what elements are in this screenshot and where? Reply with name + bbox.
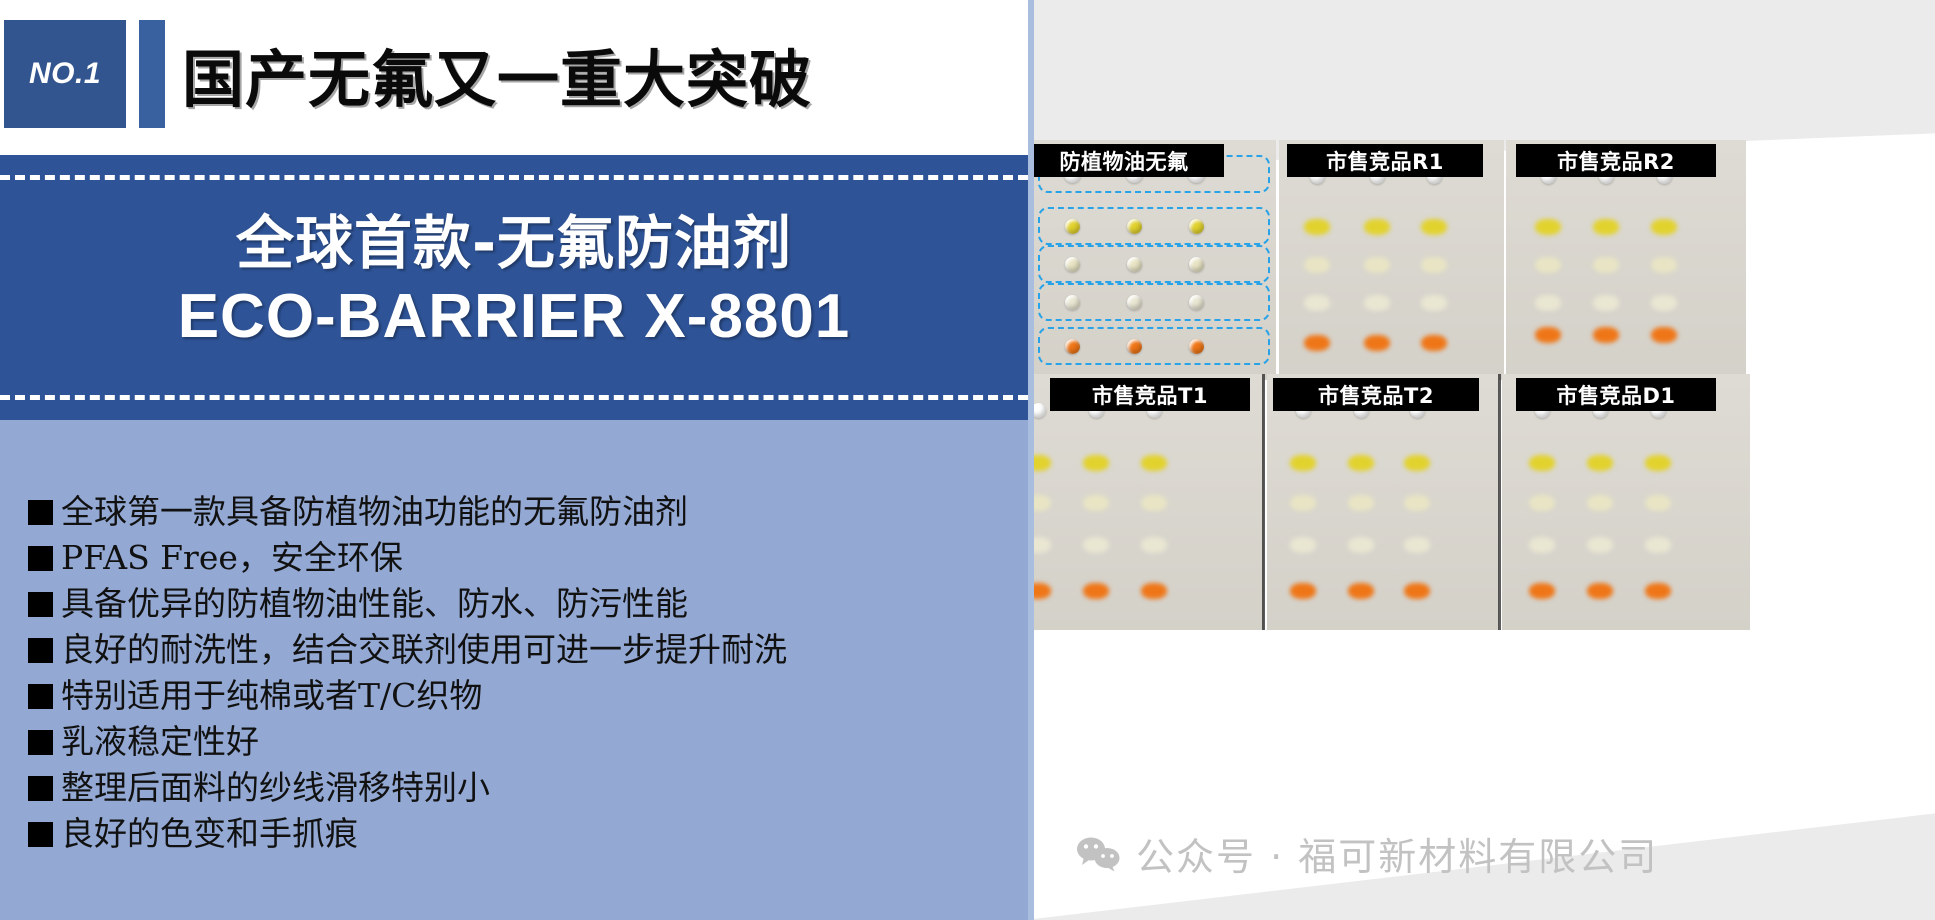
test-droplet <box>1404 495 1430 511</box>
test-droplet <box>1141 537 1167 553</box>
test-droplet <box>1529 537 1555 553</box>
test-droplet <box>1304 219 1330 235</box>
test-droplet <box>1028 495 1051 511</box>
test-droplet <box>1593 219 1619 235</box>
test-panel-label-1: 防植物油无氟 <box>1028 144 1224 177</box>
test-droplet <box>1028 583 1051 599</box>
no1-badge: NO.1 <box>4 20 126 128</box>
left-panel: NO.1 国产无氟又一重大突破 全球首款-无氟防油剂 ECO-BARRIER X… <box>0 0 1028 920</box>
header-bar: NO.1 国产无氟又一重大突破 <box>0 0 1028 150</box>
hero-text-block: 全球首款-无氟防油剂 ECO-BARRIER X-8801 <box>0 207 1028 355</box>
feature-bullet-label: 良好的耐洗性，结合交联剂使用可进一步提升耐洗 <box>61 628 787 672</box>
test-droplet <box>1364 219 1390 235</box>
test-droplet <box>1348 537 1374 553</box>
test-droplet <box>1529 495 1555 511</box>
test-droplet <box>1304 295 1330 311</box>
feature-bullet-item: 乳液稳定性好 <box>28 720 1028 764</box>
test-droplet <box>1587 537 1613 553</box>
test-panel-2: 市售竞品R1 <box>1279 140 1504 380</box>
test-droplet <box>1651 257 1677 273</box>
bullet-square-icon <box>28 546 53 571</box>
test-droplet <box>1364 295 1390 311</box>
feature-bullet-item: 具备优异的防植物油性能、防水、防污性能 <box>28 582 1028 626</box>
test-droplet <box>1348 583 1374 599</box>
test-droplet <box>1141 583 1167 599</box>
test-droplet <box>1290 455 1316 471</box>
feature-bullet-label: 具备优异的防植物油性能、防水、防污性能 <box>61 582 688 626</box>
feature-bullet-label: 整理后面料的纱线滑移特别小 <box>61 766 490 810</box>
test-droplet <box>1083 583 1109 599</box>
test-droplet <box>1304 335 1330 351</box>
no-penetration-highlight-box <box>1038 245 1270 283</box>
bullet-square-icon <box>28 684 53 709</box>
test-droplet <box>1031 403 1046 418</box>
bullet-square-icon <box>28 592 53 617</box>
test-droplet <box>1404 583 1430 599</box>
feature-bullet-label: 特别适用于纯棉或者T/C织物 <box>61 674 482 718</box>
test-droplet <box>1651 327 1677 343</box>
slide-root: NO.1 国产无氟又一重大突破 全球首款-无氟防油剂 ECO-BARRIER X… <box>0 0 1935 920</box>
test-droplet <box>1421 295 1447 311</box>
test-droplet <box>1404 455 1430 471</box>
watermark-text: 公众号 · 福可新材料有限公司 <box>1136 826 1658 881</box>
bullet-square-icon <box>28 776 53 801</box>
hero-headline-cn: 全球首款-无氟防油剂 <box>0 207 1028 279</box>
test-droplet <box>1535 219 1561 235</box>
accent-stripe <box>139 20 165 128</box>
hero-banner: 全球首款-无氟防油剂 ECO-BARRIER X-8801 <box>0 155 1028 420</box>
test-droplet <box>1651 295 1677 311</box>
test-droplet <box>1587 495 1613 511</box>
bullet-square-icon <box>28 822 53 847</box>
test-droplet <box>1028 537 1051 553</box>
test-droplet <box>1645 583 1671 599</box>
test-panel-5: 市售竞品T2 <box>1267 374 1499 630</box>
bullet-square-icon <box>28 730 53 755</box>
test-droplet <box>1083 537 1109 553</box>
test-droplet <box>1083 495 1109 511</box>
feature-bullet-item: 全球第一款具备防植物油功能的无氟防油剂 <box>28 490 1028 534</box>
test-droplet <box>1364 257 1390 273</box>
test-droplet <box>1290 495 1316 511</box>
test-panel-label-6: 市售竞品D1 <box>1516 378 1716 411</box>
test-droplet <box>1645 495 1671 511</box>
test-droplet <box>1083 455 1109 471</box>
no-penetration-highlight-box <box>1038 207 1270 245</box>
test-droplet <box>1404 537 1430 553</box>
test-panel-6: 市售竞品D1 <box>1502 374 1750 630</box>
feature-bullet-item: 整理后面料的纱线滑移特别小 <box>28 766 1028 810</box>
test-droplet <box>1529 583 1555 599</box>
feature-bullet-label: 乳液稳定性好 <box>61 720 259 764</box>
test-droplet <box>1348 495 1374 511</box>
test-panel-3: 市售竞品R2 <box>1506 140 1746 380</box>
test-droplet <box>1028 455 1051 471</box>
test-droplet <box>1587 455 1613 471</box>
test-droplet <box>1529 455 1555 471</box>
test-droplet <box>1304 257 1330 273</box>
test-droplet <box>1364 335 1390 351</box>
bullet-square-icon <box>28 638 53 663</box>
test-panel-label-5: 市售竞品T2 <box>1273 378 1479 411</box>
test-droplet <box>1535 257 1561 273</box>
wechat-icon <box>1076 836 1122 872</box>
test-panel-label-3: 市售竞品R2 <box>1516 144 1716 177</box>
panel-seam-2 <box>1498 374 1501 630</box>
watermark: 公众号 · 福可新材料有限公司 <box>1076 826 1658 881</box>
test-panel-4: 市售竞品T1 <box>1028 374 1264 630</box>
dashed-divider-bottom <box>0 395 1028 400</box>
hero-product-code: ECO-BARRIER X-8801 <box>0 279 1028 355</box>
test-droplet <box>1421 335 1447 351</box>
test-droplet <box>1290 537 1316 553</box>
test-droplet <box>1645 455 1671 471</box>
feature-bullet-item: 特别适用于纯棉或者T/C织物 <box>28 674 1028 718</box>
test-droplet <box>1348 455 1374 471</box>
test-droplet <box>1651 219 1677 235</box>
no-penetration-highlight-box <box>1038 327 1270 365</box>
test-droplet <box>1421 257 1447 273</box>
test-droplet <box>1645 537 1671 553</box>
test-droplet <box>1587 583 1613 599</box>
test-droplet <box>1141 455 1167 471</box>
test-panel-label-4: 市售竞品T1 <box>1050 378 1250 411</box>
feature-bullet-item: 良好的耐洗性，结合交联剂使用可进一步提升耐洗 <box>28 628 1028 672</box>
test-panel-1: 防植物油无氟 <box>1028 140 1276 380</box>
test-droplet <box>1593 257 1619 273</box>
feature-bullet-item: PFAS Free，安全环保 <box>28 536 1028 580</box>
test-droplet <box>1141 495 1167 511</box>
feature-bullet-label: 良好的色变和手抓痕 <box>61 812 358 856</box>
test-droplet <box>1421 219 1447 235</box>
test-droplet <box>1593 327 1619 343</box>
panel-seam-1 <box>1262 374 1265 630</box>
feature-bullet-label: 全球第一款具备防植物油功能的无氟防油剂 <box>61 490 688 534</box>
test-droplet <box>1593 295 1619 311</box>
test-droplet <box>1535 327 1561 343</box>
dashed-divider-top <box>0 175 1028 180</box>
no-penetration-highlight-box <box>1038 283 1270 321</box>
test-droplet <box>1290 583 1316 599</box>
feature-bullet-label: PFAS Free，安全环保 <box>61 536 403 580</box>
page-title: 国产无氟又一重大突破 <box>182 24 962 124</box>
feature-bullet-item: 良好的色变和手抓痕 <box>28 812 1028 856</box>
right-panel: 水橄榄油花生油玉米油辣椒油 * 静置20分钟不渗透 防植物油无氟市售竞品R1市售… <box>1028 0 1935 920</box>
bullet-square-icon <box>28 500 53 525</box>
test-droplet <box>1535 295 1561 311</box>
test-panel-label-2: 市售竞品R1 <box>1287 144 1483 177</box>
feature-bullet-list: 全球第一款具备防植物油功能的无氟防油剂 PFAS Free，安全环保具备优异的防… <box>0 420 1028 920</box>
